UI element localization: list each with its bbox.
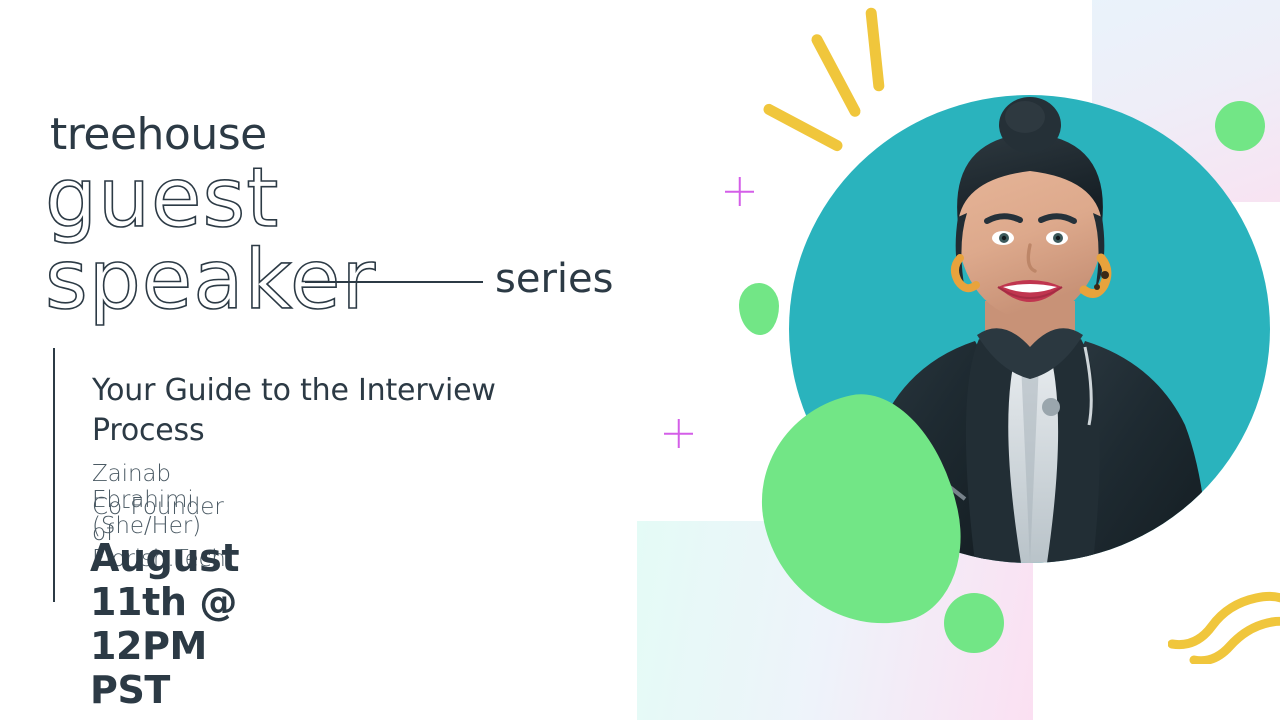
green-circle-bottom — [944, 593, 1004, 653]
squiggle-line-2 — [1194, 621, 1280, 660]
series-divider-rule — [305, 281, 483, 283]
series-word: series — [495, 256, 613, 302]
plus-icon-lower — [664, 419, 693, 448]
vertical-accent-rule — [53, 348, 55, 602]
talk-title: Your Guide to the Interview Process — [92, 371, 512, 451]
event-datetime: August 11th @ 12PM PST — [90, 536, 239, 712]
series-title: guest speaker — [45, 158, 376, 322]
squiggle-line-1 — [1172, 596, 1280, 644]
squiggle-line-group — [1168, 574, 1280, 664]
portrait-illustration — [789, 95, 1270, 563]
spark-stroke-3 — [865, 7, 885, 92]
plus-icon-upper — [725, 177, 754, 206]
green-blob-small — [739, 283, 779, 335]
promo-slide: treehouse guest speaker series Your Guid… — [0, 0, 1280, 720]
speaker-portrait — [789, 95, 1270, 563]
